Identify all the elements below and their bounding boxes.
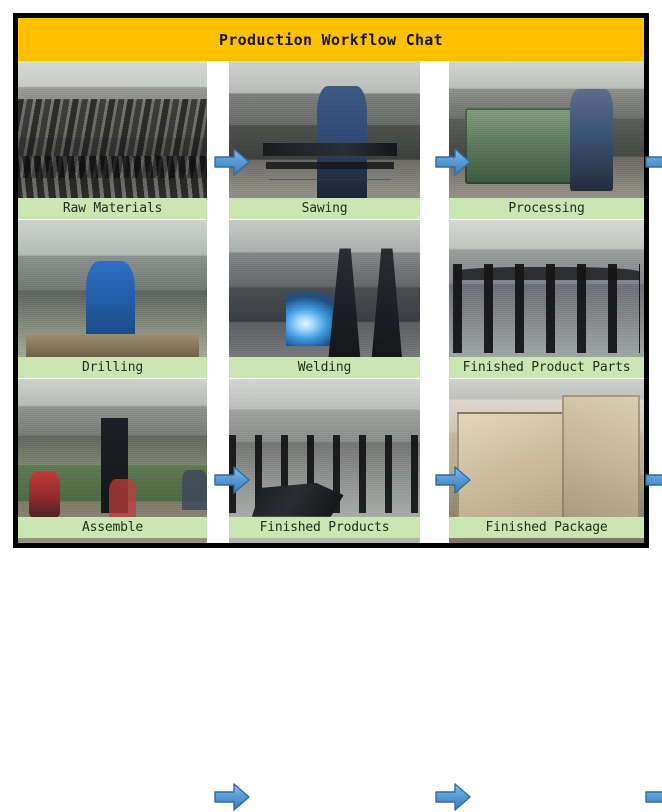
workflow-row-2: Drilling Welding <box>18 220 644 378</box>
step-label-finished-product-parts: Finished Product Parts <box>463 360 631 375</box>
right-arrow-icon <box>645 782 662 812</box>
step-caption: Finished Package <box>449 517 644 538</box>
step-caption: Raw Materials <box>18 198 207 219</box>
step-caption: Assemble <box>18 517 207 538</box>
workflow-step-welding[interactable]: Welding <box>229 220 420 378</box>
sawing-photo <box>229 61 420 219</box>
step-label-finished-products: Finished Products <box>260 520 390 535</box>
workflow-row-1: Raw Materials <box>18 61 644 219</box>
panel-title-bar: Production Workflow Chat <box>18 18 644 61</box>
welding-photo <box>229 220 420 378</box>
right-arrow-icon <box>435 147 471 177</box>
workflow-step-processing[interactable]: Processing <box>449 61 644 219</box>
step-caption: Sawing <box>229 198 420 219</box>
workflow-step-finished-product-parts[interactable]: Finished Product Parts <box>449 220 644 378</box>
step-caption: Welding <box>229 357 420 378</box>
step-label-processing: Processing <box>508 201 584 216</box>
right-arrow-icon <box>435 782 471 812</box>
workflow-step-drilling[interactable]: Drilling <box>18 220 207 378</box>
right-arrow-icon <box>645 465 662 495</box>
workflow-step-finished-products[interactable]: Finished Products <box>229 379 420 543</box>
step-caption: Drilling <box>18 357 207 378</box>
right-arrow-icon <box>435 465 471 495</box>
finished-product-parts-photo <box>449 220 644 378</box>
step-caption: Processing <box>449 198 644 219</box>
workflow-step-raw-materials[interactable]: Raw Materials <box>18 61 207 219</box>
drilling-photo <box>18 220 207 378</box>
processing-photo <box>449 61 644 219</box>
right-arrow-icon <box>645 147 662 177</box>
step-caption: Finished Product Parts <box>449 357 644 378</box>
step-label-raw-materials: Raw Materials <box>63 201 162 216</box>
right-arrow-icon <box>214 465 250 495</box>
workflow-grid: Raw Materials <box>18 61 644 543</box>
workflow-row-3: Assemble Finished Products <box>18 379 644 543</box>
workflow-step-finished-package[interactable]: Finished Package <box>449 379 644 543</box>
right-arrow-icon <box>214 147 250 177</box>
step-label-drilling: Drilling <box>82 360 143 375</box>
page-title: Production Workflow Chat <box>219 31 443 49</box>
step-caption: Finished Products <box>229 517 420 538</box>
step-label-sawing: Sawing <box>302 201 348 216</box>
right-arrow-icon <box>214 782 250 812</box>
step-label-assemble: Assemble <box>82 520 143 535</box>
workflow-step-sawing[interactable]: Sawing <box>229 61 420 219</box>
step-label-welding: Welding <box>298 360 351 375</box>
production-workflow-panel: Production Workflow Chat Raw Materials <box>13 13 649 548</box>
raw-materials-photo <box>18 61 207 219</box>
step-label-finished-package: Finished Package <box>485 520 607 535</box>
workflow-step-assemble[interactable]: Assemble <box>18 379 207 543</box>
